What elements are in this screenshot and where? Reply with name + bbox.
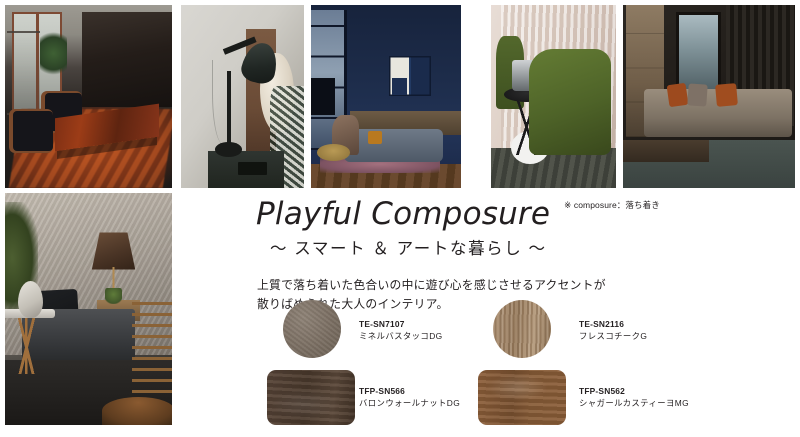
photo-6-railing (132, 300, 172, 393)
photo-2-book (238, 162, 268, 175)
photo-3-coffee-table (317, 144, 350, 160)
photo-5-cushion-rust-left (666, 82, 688, 106)
photo-2-lamp-stem (227, 71, 231, 148)
photo-5-cushion-taupe (688, 83, 708, 106)
swatch-code: TE-SN7107 (359, 319, 443, 331)
lead-line-1: 上質で落ち着いた色合いの中に遊び心を感じさせるアクセントが (257, 276, 796, 295)
page-title: Playful Composure (256, 196, 550, 232)
photo-1-shelf (7, 31, 40, 116)
swatch-name-jp: フレスコチークG (579, 331, 647, 343)
photo-bedside-desk-lamp (181, 5, 304, 188)
photo-5-coffee-table (623, 140, 709, 162)
photo-3-wall-art (389, 56, 431, 96)
photo-6-potted-plant (105, 288, 122, 304)
swatch-label-te-sn2116: TE-SN2116 フレスコチークG (579, 319, 647, 343)
swatch-label-te-sn7107: TE-SN7107 ミネルバスタッコDG (359, 319, 443, 343)
title-footnote: ※ composure：落ち着き (564, 199, 660, 211)
swatch-name-jp: シャガールカスティーヨMG (579, 398, 689, 410)
headline-block: Playful Composure※ composure：落ち着き 〜 スマート… (256, 196, 796, 314)
page-subtitle: 〜 スマート ＆ アートな暮らし 〜 (270, 235, 796, 259)
swatch-code: TE-SN2116 (579, 319, 647, 331)
photo-6-round-table (102, 397, 172, 425)
swatch-label-tfp-sn562: TFP-SN562 シャガールカスティーヨMG (579, 386, 689, 410)
swatch-chip-rect-castilho-mg (478, 370, 566, 425)
photo-6-tripod-legs (5, 314, 48, 374)
photo-concrete-wall-living-room (5, 193, 172, 425)
photo-1-chair-front (13, 111, 53, 151)
photo-4-green-armchair (529, 49, 612, 155)
swatch-name-jp: バロンウォールナットDG (359, 398, 460, 410)
swatch-chip-circle-stucco-dg (283, 300, 341, 358)
swatch-label-tfp-sn566: TFP-SN566 バロンウォールナットDG (359, 386, 460, 410)
photo-1-dark-room (82, 12, 172, 107)
swatch-chip-rect-walnut-dg (267, 370, 355, 425)
swatch-name-jp: ミネルバスタッコDG (359, 331, 443, 343)
photo-navy-living-room (311, 5, 461, 188)
photo-3-cushion (368, 131, 382, 144)
photo-1-plant (40, 27, 67, 75)
swatch-chip-circle-teak-g (493, 300, 551, 358)
swatch-code: TFP-SN562 (579, 386, 689, 398)
photo-3-tv (311, 78, 335, 115)
photo-green-armchair-side-table (491, 5, 616, 188)
photo-dark-lounge-sofa (623, 5, 795, 188)
photo-industrial-loft-lounge (5, 5, 172, 188)
swatch-code: TFP-SN566 (359, 386, 460, 398)
photo-5-cushion-rust-right (715, 83, 737, 107)
